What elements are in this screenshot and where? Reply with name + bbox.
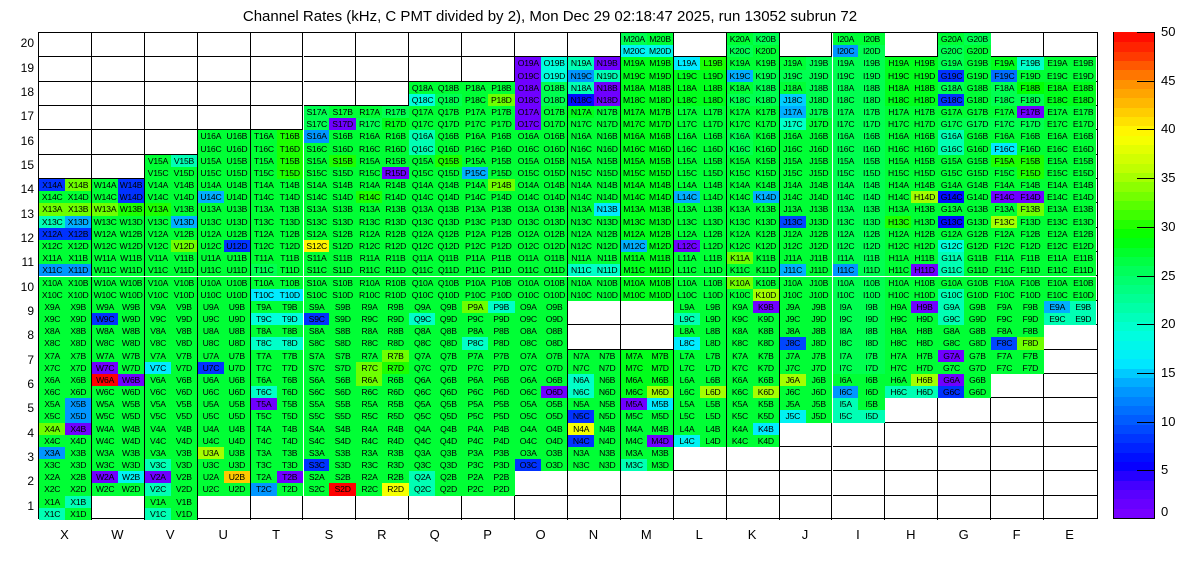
- channel-U11D[interactable]: U11D: [224, 264, 250, 276]
- channel-R13D[interactable]: R13D: [382, 216, 408, 228]
- channel-R9C[interactable]: R9C: [356, 313, 382, 325]
- channel-V7A[interactable]: V7A: [145, 350, 171, 362]
- channel-U3D[interactable]: U3D: [224, 459, 250, 471]
- channel-F8B[interactable]: F8B: [1017, 325, 1043, 337]
- channel-N7B[interactable]: N7B: [594, 350, 620, 362]
- channel-W3B[interactable]: W3B: [118, 447, 144, 459]
- channel-M6B[interactable]: M6B: [647, 374, 673, 386]
- channel-N15D[interactable]: N15D: [594, 167, 620, 179]
- channel-K11A[interactable]: K11A: [727, 252, 753, 264]
- channel-T6A[interactable]: T6A: [251, 374, 277, 386]
- heatmap-cell-H5[interactable]: [885, 398, 938, 422]
- heatmap-cell-X18[interactable]: [39, 82, 92, 106]
- channel-I16B[interactable]: I16B: [858, 130, 884, 142]
- channel-U16B[interactable]: U16B: [224, 130, 250, 142]
- channel-K13C[interactable]: K13C: [727, 216, 753, 228]
- heatmap-cell-S15[interactable]: S15AS15BS15CS15D: [304, 155, 357, 179]
- channel-N14B[interactable]: N14B: [594, 179, 620, 191]
- heatmap-cell-S9[interactable]: S9AS9BS9CS9D: [304, 301, 357, 325]
- heatmap-cell-V14[interactable]: V14AV14BV14CV14D: [145, 179, 198, 203]
- channel-P6B[interactable]: P6B: [488, 374, 514, 386]
- channel-G14B[interactable]: G14B: [964, 179, 990, 191]
- heatmap-cell-H6[interactable]: H6AH6BH6CH6D: [885, 374, 938, 398]
- channel-G15B[interactable]: G15B: [964, 155, 990, 167]
- channel-X13C[interactable]: X13C: [39, 216, 65, 228]
- channel-R14D[interactable]: R14D: [382, 191, 408, 203]
- channel-W13C[interactable]: W13C: [92, 216, 118, 228]
- channel-T7A[interactable]: T7A: [251, 350, 277, 362]
- channel-V4A[interactable]: V4A: [145, 423, 171, 435]
- channel-L13A[interactable]: L13A: [674, 203, 700, 215]
- channel-S8D[interactable]: S8D: [329, 337, 355, 349]
- channel-I17C[interactable]: I17C: [833, 118, 859, 130]
- channel-L6C[interactable]: L6C: [674, 386, 700, 398]
- channel-T4B[interactable]: T4B: [277, 423, 303, 435]
- channel-W2D[interactable]: W2D: [118, 483, 144, 495]
- channel-I11A[interactable]: I11A: [833, 252, 859, 264]
- channel-L16D[interactable]: L16D: [700, 143, 726, 155]
- channel-G11C[interactable]: G11C: [938, 264, 964, 276]
- channel-G12D[interactable]: G12D: [964, 240, 990, 252]
- channel-T4C[interactable]: T4C: [251, 435, 277, 447]
- channel-U13D[interactable]: U13D: [224, 216, 250, 228]
- channel-W13D[interactable]: W13D: [118, 216, 144, 228]
- channel-N13B[interactable]: N13B: [594, 203, 620, 215]
- heatmap-cell-V19[interactable]: [145, 57, 198, 81]
- channel-P6C[interactable]: P6C: [462, 386, 488, 398]
- heatmap-cell-R6[interactable]: R6AR6BR6CR6D: [356, 374, 409, 398]
- channel-M16C[interactable]: M16C: [621, 143, 647, 155]
- channel-L13B[interactable]: L13B: [700, 203, 726, 215]
- heatmap-cell-O13[interactable]: O13AO13BO13CO13D: [515, 203, 568, 227]
- channel-S13D[interactable]: S13D: [329, 216, 355, 228]
- channel-O11C[interactable]: O11C: [515, 264, 541, 276]
- channel-M16B[interactable]: M16B: [647, 130, 673, 142]
- channel-I10C[interactable]: I10C: [833, 289, 859, 301]
- channel-J7B[interactable]: J7B: [806, 350, 832, 362]
- heatmap-cell-K19[interactable]: K19AK19BK19CK19D: [727, 57, 780, 81]
- channel-M19C[interactable]: M19C: [621, 70, 647, 82]
- channel-H9D[interactable]: H9D: [911, 313, 937, 325]
- channel-L16C[interactable]: L16C: [674, 143, 700, 155]
- channel-F19B[interactable]: F19B: [1017, 57, 1043, 69]
- channel-O3A[interactable]: O3A: [515, 447, 541, 459]
- channel-I7A[interactable]: I7A: [833, 350, 859, 362]
- channel-F8D[interactable]: F8D: [1017, 337, 1043, 349]
- channel-L6D[interactable]: L6D: [700, 386, 726, 398]
- channel-W2A[interactable]: W2A: [92, 471, 118, 483]
- heatmap-cell-V17[interactable]: [145, 106, 198, 130]
- heatmap-cell-Q4[interactable]: Q4AQ4BQ4CQ4D: [409, 423, 462, 447]
- channel-L5D[interactable]: L5D: [700, 410, 726, 422]
- heatmap-cell-S16[interactable]: S16AS16BS16CS16D: [304, 130, 357, 154]
- heatmap-cell-L20[interactable]: [674, 33, 727, 57]
- channel-X9D[interactable]: X9D: [65, 313, 91, 325]
- heatmap-cell-T20[interactable]: [251, 33, 304, 57]
- heatmap-cell-F8[interactable]: F8AF8BF8CF8D: [991, 325, 1044, 349]
- heatmap-cell-L15[interactable]: L15AL15BL15CL15D: [674, 155, 727, 179]
- channel-X4B[interactable]: X4B: [65, 423, 91, 435]
- channel-K5D[interactable]: K5D: [753, 410, 779, 422]
- channel-N13D[interactable]: N13D: [594, 216, 620, 228]
- channel-V8D[interactable]: V8D: [171, 337, 197, 349]
- channel-N18C[interactable]: N18C: [568, 94, 594, 106]
- channel-M19A[interactable]: M19A: [621, 57, 647, 69]
- heatmap-cell-K9[interactable]: K9AK9BK9CK9D: [727, 301, 780, 325]
- heatmap-cell-Q16[interactable]: Q16AQ16BQ16CQ16D: [409, 130, 462, 154]
- channel-P7A[interactable]: P7A: [462, 350, 488, 362]
- channel-H10C[interactable]: H10C: [885, 289, 911, 301]
- channel-G8D[interactable]: G8D: [964, 337, 990, 349]
- heatmap-cell-X19[interactable]: [39, 57, 92, 81]
- channel-J19B[interactable]: J19B: [806, 57, 832, 69]
- channel-S10A[interactable]: S10A: [304, 277, 330, 289]
- heatmap-cell-Q15[interactable]: Q15AQ15BQ15CQ15D: [409, 155, 462, 179]
- channel-K16A[interactable]: K16A: [727, 130, 753, 142]
- channel-M17A[interactable]: M17A: [621, 106, 647, 118]
- channel-K18D[interactable]: K18D: [753, 94, 779, 106]
- channel-L7C[interactable]: L7C: [674, 362, 700, 374]
- channel-H10D[interactable]: H10D: [911, 289, 937, 301]
- channel-E14A[interactable]: E14A: [1044, 179, 1070, 191]
- heatmap-cell-Q12[interactable]: Q12AQ12BQ12CQ12D: [409, 228, 462, 252]
- channel-G14C[interactable]: G14C: [938, 191, 964, 203]
- heatmap-cell-H7[interactable]: H7AH7BH7CH7D: [885, 350, 938, 374]
- channel-V7B[interactable]: V7B: [171, 350, 197, 362]
- channel-R5B[interactable]: R5B: [382, 398, 408, 410]
- channel-H6D[interactable]: H6D: [911, 386, 937, 398]
- channel-I20D[interactable]: I20D: [858, 45, 884, 57]
- channel-X6B[interactable]: X6B: [65, 374, 91, 386]
- channel-I17A[interactable]: I17A: [833, 106, 859, 118]
- channel-T4A[interactable]: T4A: [251, 423, 277, 435]
- channel-X9B[interactable]: X9B: [65, 301, 91, 313]
- channel-W8B[interactable]: W8B: [118, 325, 144, 337]
- channel-G8B[interactable]: G8B: [964, 325, 990, 337]
- channel-F19D[interactable]: F19D: [1017, 70, 1043, 82]
- channel-J11D[interactable]: J11D: [806, 264, 832, 276]
- channel-M4C[interactable]: M4C: [621, 435, 647, 447]
- channel-L8B[interactable]: L8B: [700, 325, 726, 337]
- channel-I17D[interactable]: I17D: [858, 118, 884, 130]
- channel-J14D[interactable]: J14D: [806, 191, 832, 203]
- channel-V11B[interactable]: V11B: [171, 252, 197, 264]
- heatmap-cell-O14[interactable]: O14AO14BO14CO14D: [515, 179, 568, 203]
- heatmap-cell-X11[interactable]: X11AX11BX11CX11D: [39, 252, 92, 276]
- channel-I11C[interactable]: I11C: [833, 264, 859, 276]
- channel-Q12C[interactable]: Q12C: [409, 240, 435, 252]
- channel-N7D[interactable]: N7D: [594, 362, 620, 374]
- heatmap-cell-I15[interactable]: I15AI15BI15CI15D: [833, 155, 886, 179]
- heatmap-cell-U8[interactable]: U8AU8BU8CU8D: [198, 325, 251, 349]
- channel-N11C[interactable]: N11C: [568, 264, 594, 276]
- channel-W2C[interactable]: W2C: [92, 483, 118, 495]
- channel-K7D[interactable]: K7D: [753, 362, 779, 374]
- channel-S8B[interactable]: S8B: [329, 325, 355, 337]
- channel-O3D[interactable]: O3D: [541, 459, 567, 471]
- heatmap-cell-G3[interactable]: [938, 447, 991, 471]
- heatmap-cell-F14[interactable]: F14AF14BF14CF14D: [991, 179, 1044, 203]
- heatmap-cell-N9[interactable]: [568, 301, 621, 325]
- heatmap-cell-K1[interactable]: [727, 496, 780, 520]
- channel-V6D[interactable]: V6D: [171, 386, 197, 398]
- channel-X14A[interactable]: X14A: [39, 179, 65, 191]
- heatmap-cell-K16[interactable]: K16AK16BK16CK16D: [727, 130, 780, 154]
- channel-G18D[interactable]: G18D: [964, 94, 990, 106]
- channel-Q5C[interactable]: Q5C: [409, 410, 435, 422]
- channel-P5A[interactable]: P5A: [462, 398, 488, 410]
- heatmap-cell-M1[interactable]: [621, 496, 674, 520]
- channel-N3A[interactable]: N3A: [568, 447, 594, 459]
- channel-M20A[interactable]: M20A: [621, 33, 647, 45]
- channel-P4D[interactable]: P4D: [488, 435, 514, 447]
- channel-W10D[interactable]: W10D: [118, 289, 144, 301]
- heatmap-cell-S4[interactable]: S4AS4BS4CS4D: [304, 423, 357, 447]
- channel-S16A[interactable]: S16A: [304, 130, 330, 142]
- channel-O13B[interactable]: O13B: [541, 203, 567, 215]
- heatmap-cell-G13[interactable]: G13AG13BG13CG13D: [938, 203, 991, 227]
- channel-Q18A[interactable]: Q18A: [409, 82, 435, 94]
- heatmap-cell-N16[interactable]: N16AN16BN16CN16D: [568, 130, 621, 154]
- channel-K14B[interactable]: K14B: [753, 179, 779, 191]
- channel-E15C[interactable]: E15C: [1044, 167, 1070, 179]
- channel-P12B[interactable]: P12B: [488, 228, 514, 240]
- channel-O19A[interactable]: O19A: [515, 57, 541, 69]
- channel-S13B[interactable]: S13B: [329, 203, 355, 215]
- channel-L8D[interactable]: L8D: [700, 337, 726, 349]
- heatmap-cell-S18[interactable]: [304, 82, 357, 106]
- heatmap-cell-P16[interactable]: P16AP16BP16CP16D: [462, 130, 515, 154]
- channel-L14D[interactable]: L14D: [700, 191, 726, 203]
- channel-G16B[interactable]: G16B: [964, 130, 990, 142]
- channel-G9B[interactable]: G9B: [964, 301, 990, 313]
- channel-U13C[interactable]: U13C: [198, 216, 224, 228]
- channel-I9C[interactable]: I9C: [833, 313, 859, 325]
- channel-G15C[interactable]: G15C: [938, 167, 964, 179]
- channel-I10D[interactable]: I10D: [858, 289, 884, 301]
- channel-M18A[interactable]: M18A: [621, 82, 647, 94]
- channel-K12C[interactable]: K12C: [727, 240, 753, 252]
- channel-I9D[interactable]: I9D: [858, 313, 884, 325]
- channel-V2B[interactable]: V2B: [171, 471, 197, 483]
- channel-M4D[interactable]: M4D: [647, 435, 673, 447]
- heatmap-cell-S20[interactable]: [304, 33, 357, 57]
- channel-I16C[interactable]: I16C: [833, 143, 859, 155]
- channel-H14C[interactable]: H14C: [885, 191, 911, 203]
- channel-U7C[interactable]: U7C: [198, 362, 224, 374]
- channel-S9D[interactable]: S9D: [329, 313, 355, 325]
- channel-J17A[interactable]: J17A: [780, 106, 806, 118]
- channel-I8D[interactable]: I8D: [858, 337, 884, 349]
- channel-R7C[interactable]: R7C: [356, 362, 382, 374]
- channel-J9B[interactable]: J9B: [806, 301, 832, 313]
- channel-I12B[interactable]: I12B: [858, 228, 884, 240]
- heatmap-cell-T16[interactable]: T16AT16BT16CT16D: [251, 130, 304, 154]
- channel-X7A[interactable]: X7A: [39, 350, 65, 362]
- channel-H11A[interactable]: H11A: [885, 252, 911, 264]
- channel-U5C[interactable]: U5C: [198, 410, 224, 422]
- channel-G10D[interactable]: G10D: [964, 289, 990, 301]
- channel-X11A[interactable]: X11A: [39, 252, 65, 264]
- channel-P15B[interactable]: P15B: [488, 155, 514, 167]
- channel-Q9D[interactable]: Q9D: [435, 313, 461, 325]
- channel-V4C[interactable]: V4C: [145, 435, 171, 447]
- channel-U13B[interactable]: U13B: [224, 203, 250, 215]
- heatmap-cell-I14[interactable]: I14AI14BI14CI14D: [833, 179, 886, 203]
- channel-P3B[interactable]: P3B: [488, 447, 514, 459]
- channel-S11B[interactable]: S11B: [329, 252, 355, 264]
- channel-F9A[interactable]: F9A: [991, 301, 1017, 313]
- channel-V4D[interactable]: V4D: [171, 435, 197, 447]
- channel-P4A[interactable]: P4A: [462, 423, 488, 435]
- channel-P13B[interactable]: P13B: [488, 203, 514, 215]
- channel-X11C[interactable]: X11C: [39, 264, 65, 276]
- heatmap-cell-V9[interactable]: V9AV9BV9CV9D: [145, 301, 198, 325]
- heatmap-cell-P6[interactable]: P6AP6BP6CP6D: [462, 374, 515, 398]
- channel-W5D[interactable]: W5D: [118, 410, 144, 422]
- heatmap-cell-L6[interactable]: L6AL6BL6CL6D: [674, 374, 727, 398]
- channel-Q10B[interactable]: Q10B: [435, 277, 461, 289]
- channel-V10D[interactable]: V10D: [171, 289, 197, 301]
- channel-H16A[interactable]: H16A: [885, 130, 911, 142]
- heatmap-cell-O9[interactable]: O9AO9BO9CO9D: [515, 301, 568, 325]
- channel-N6D[interactable]: N6D: [594, 386, 620, 398]
- heatmap-cell-R1[interactable]: [356, 496, 409, 520]
- channel-I20B[interactable]: I20B: [858, 33, 884, 45]
- channel-S13C[interactable]: S13C: [304, 216, 330, 228]
- channel-O7A[interactable]: O7A: [515, 350, 541, 362]
- channel-O4D[interactable]: O4D: [541, 435, 567, 447]
- channel-P9C[interactable]: P9C: [462, 313, 488, 325]
- channel-W12A[interactable]: W12A: [92, 228, 118, 240]
- channel-U16A[interactable]: U16A: [198, 130, 224, 142]
- channel-E18B[interactable]: E18B: [1070, 82, 1096, 94]
- channel-P9D[interactable]: P9D: [488, 313, 514, 325]
- channel-T16B[interactable]: T16B: [277, 130, 303, 142]
- channel-Q6A[interactable]: Q6A: [409, 374, 435, 386]
- heatmap-cell-M13[interactable]: M13AM13BM13CM13D: [621, 203, 674, 227]
- channel-G15A[interactable]: G15A: [938, 155, 964, 167]
- channel-L19A[interactable]: L19A: [674, 57, 700, 69]
- channel-R3B[interactable]: R3B: [382, 447, 408, 459]
- heatmap-cell-T7[interactable]: T7AT7BT7CT7D: [251, 350, 304, 374]
- heatmap-cell-J15[interactable]: J15AJ15BJ15CJ15D: [780, 155, 833, 179]
- channel-H13C[interactable]: H13C: [885, 216, 911, 228]
- channel-F10A[interactable]: F10A: [991, 277, 1017, 289]
- heatmap-cell-F5[interactable]: [991, 398, 1044, 422]
- channel-U4D[interactable]: U4D: [224, 435, 250, 447]
- heatmap-cell-G17[interactable]: G17AG17BG17CG17D: [938, 106, 991, 130]
- channel-M18C[interactable]: M18C: [621, 94, 647, 106]
- heatmap-cell-R5[interactable]: R5AR5BR5CR5D: [356, 398, 409, 422]
- channel-Q15D[interactable]: Q15D: [435, 167, 461, 179]
- heatmap-cell-I5[interactable]: I5AI5BI5CI5D: [833, 398, 886, 422]
- channel-W4B[interactable]: W4B: [118, 423, 144, 435]
- channel-K6C[interactable]: K6C: [727, 386, 753, 398]
- channel-U15A[interactable]: U15A: [198, 155, 224, 167]
- heatmap-cell-N6[interactable]: N6AN6BN6CN6D: [568, 374, 621, 398]
- heatmap-cell-S10[interactable]: S10AS10BS10CS10D: [304, 277, 357, 301]
- heatmap-cell-S6[interactable]: S6AS6BS6CS6D: [304, 374, 357, 398]
- heatmap-cell-L7[interactable]: L7AL7BL7CL7D: [674, 350, 727, 374]
- channel-G13A[interactable]: G13A: [938, 203, 964, 215]
- channel-X12A[interactable]: X12A: [39, 228, 65, 240]
- heatmap-cell-O19[interactable]: O19AO19BO19CO19D: [515, 57, 568, 81]
- channel-R7A[interactable]: R7A: [356, 350, 382, 362]
- heatmap-cell-X4[interactable]: X4AX4BX4CX4D: [39, 423, 92, 447]
- channel-L11B[interactable]: L11B: [700, 252, 726, 264]
- channel-F11A[interactable]: F11A: [991, 252, 1017, 264]
- channel-P11B[interactable]: P11B: [488, 252, 514, 264]
- channel-F15A[interactable]: F15A: [991, 155, 1017, 167]
- channel-O19C[interactable]: O19C: [515, 70, 541, 82]
- channel-M3C[interactable]: M3C: [621, 459, 647, 471]
- channel-V7D[interactable]: V7D: [171, 362, 197, 374]
- heatmap-cell-U16[interactable]: U16AU16BU16CU16D: [198, 130, 251, 154]
- channel-E15A[interactable]: E15A: [1044, 155, 1070, 167]
- channel-K7B[interactable]: K7B: [753, 350, 779, 362]
- channel-T5D[interactable]: T5D: [277, 410, 303, 422]
- channel-U6C[interactable]: U6C: [198, 386, 224, 398]
- channel-I11D[interactable]: I11D: [858, 264, 884, 276]
- channel-W10B[interactable]: W10B: [118, 277, 144, 289]
- channel-E11B[interactable]: E11B: [1070, 252, 1096, 264]
- channel-L4B[interactable]: L4B: [700, 423, 726, 435]
- channel-H17B[interactable]: H17B: [911, 106, 937, 118]
- channel-K4C[interactable]: K4C: [727, 435, 753, 447]
- heatmap-cell-E7[interactable]: [1044, 350, 1097, 374]
- channel-U11C[interactable]: U11C: [198, 264, 224, 276]
- channel-G9C[interactable]: G9C: [938, 313, 964, 325]
- channel-S8A[interactable]: S8A: [304, 325, 330, 337]
- channel-J8A[interactable]: J8A: [780, 325, 806, 337]
- channel-K16D[interactable]: K16D: [753, 143, 779, 155]
- channel-L18A[interactable]: L18A: [674, 82, 700, 94]
- heatmap-cell-U1[interactable]: [198, 496, 251, 520]
- heatmap-cell-N2[interactable]: [568, 471, 621, 495]
- heatmap-cell-G19[interactable]: G19AG19BG19CG19D: [938, 57, 991, 81]
- channel-H8C[interactable]: H8C: [885, 337, 911, 349]
- channel-Q3A[interactable]: Q3A: [409, 447, 435, 459]
- heatmap-cell-W15[interactable]: [92, 155, 145, 179]
- channel-X9A[interactable]: X9A: [39, 301, 65, 313]
- heatmap-cell-S1[interactable]: [304, 496, 357, 520]
- channel-T12B[interactable]: T12B: [277, 228, 303, 240]
- heatmap-cell-H3[interactable]: [885, 447, 938, 471]
- heatmap-cell-S11[interactable]: S11AS11BS11CS11D: [304, 252, 357, 276]
- channel-M17B[interactable]: M17B: [647, 106, 673, 118]
- channel-N4B[interactable]: N4B: [594, 423, 620, 435]
- channel-J14C[interactable]: J14C: [780, 191, 806, 203]
- channel-S16C[interactable]: S16C: [304, 143, 330, 155]
- channel-O6D[interactable]: O6D: [541, 386, 567, 398]
- heatmap-cell-T11[interactable]: T11AT11BT11CT11D: [251, 252, 304, 276]
- channel-N12D[interactable]: N12D: [594, 240, 620, 252]
- channel-K17C[interactable]: K17C: [727, 118, 753, 130]
- channel-K20C[interactable]: K20C: [727, 45, 753, 57]
- channel-R6A[interactable]: R6A: [356, 374, 382, 386]
- channel-W6B[interactable]: W6B: [118, 374, 144, 386]
- channel-W7C[interactable]: W7C: [92, 362, 118, 374]
- heatmap-cell-W4[interactable]: W4AW4BW4CW4D: [92, 423, 145, 447]
- channel-O7D[interactable]: O7D: [541, 362, 567, 374]
- channel-N7C[interactable]: N7C: [568, 362, 594, 374]
- channel-U10D[interactable]: U10D: [224, 289, 250, 301]
- channel-S3D[interactable]: S3D: [329, 459, 355, 471]
- channel-F7B[interactable]: F7B: [1017, 350, 1043, 362]
- channel-O10B[interactable]: O10B: [541, 277, 567, 289]
- channel-M11A[interactable]: M11A: [621, 252, 647, 264]
